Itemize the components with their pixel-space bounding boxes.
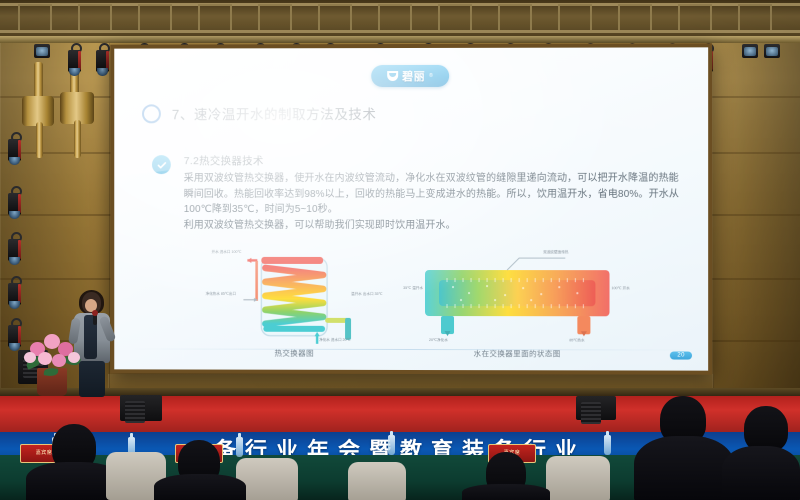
diagram-label-cold-inlet: 净化水 进水口 20℃ <box>319 338 353 343</box>
brand-logo-badge: 碧丽 ® <box>371 65 449 87</box>
stage-monitor-speaker <box>576 396 616 420</box>
par-light <box>764 44 780 58</box>
par-light <box>34 44 50 58</box>
check-circle-icon <box>152 155 171 174</box>
water-bottle <box>388 435 395 455</box>
diagram-heat-exchanger: 开水 进水口 100℃ 净化热水 85℃出口 温开水 出水口 35℃ 净化水 进… <box>200 248 389 358</box>
cup-icon <box>387 71 398 81</box>
conference-hall-scene: 碧丽 ® 7、速冷温开水的制取方法及技术 7.2热交换器技术 采用双波纹管热交换… <box>0 0 800 500</box>
ring-bullet-icon <box>142 104 161 123</box>
water-bottle <box>604 435 611 455</box>
chair-back <box>348 462 406 500</box>
stage-monitor-speaker <box>120 395 162 421</box>
presentation-slide[interactable]: 碧丽 ® 7、速冷温开水的制取方法及技术 7.2热交换器技术 采用双波纹管热交换… <box>114 47 708 370</box>
audience-shoulders <box>722 446 800 500</box>
projection-screen-frame: 碧丽 ® 7、速冷温开水的制取方法及技术 7.2热交换器技术 采用双波纹管热交换… <box>110 43 712 374</box>
flower-arrangement <box>24 330 80 396</box>
slide-title-row: 7、速冷温开水的制取方法及技术 <box>142 103 376 123</box>
body-paragraph-1: 采用双波纹管热交换器，使开水在内波纹管流动，净化水在双波纹管的缝隙里递向流动，可… <box>184 171 684 218</box>
diagram-label-hot-outlet: 净化热水 85℃出口 <box>206 292 242 297</box>
diagram-label-warm-left: 35℃ 温开水 <box>397 286 423 291</box>
audience-shoulders <box>462 484 550 500</box>
diagram-row: 开水 进水口 100℃ 净化热水 85℃出口 温开水 出水口 35℃ 净化水 进… <box>200 248 640 359</box>
diagram-label-boiling-right: 100℃ 开水 <box>612 286 638 291</box>
diagram-water-state: 双波纹壁面传热 35℃ 温开水 100℃ 开水 20℃净化水 85℃热水 水在交… <box>395 248 640 358</box>
audience-shoulders <box>154 474 246 500</box>
diagram-label-hot-bottom: 85℃热水 <box>569 338 584 343</box>
slide-body: 7.2热交换器技术 采用双波纹管热交换器，使开水在内波纹管流动，净化水在双波纹管… <box>184 153 684 233</box>
truss-bottom-bar <box>0 36 800 43</box>
water-bottle <box>236 437 243 457</box>
diagram-label-warm-outlet: 温开水 出水口 35℃ <box>351 292 385 297</box>
diagram-label-purified-bottom: 20℃净化水 <box>429 338 448 343</box>
slide-title: 7、速冷温开水的制取方法及技术 <box>172 103 377 123</box>
audience-shoulders <box>634 436 734 500</box>
chair-back <box>546 456 610 500</box>
diagram-label-hot-inlet: 开水 进水口 100℃ <box>212 250 246 255</box>
par-light <box>742 44 758 58</box>
diagram-label-wall-transfer: 双波纹壁面传热 <box>543 250 568 255</box>
lighting-truss <box>0 0 800 40</box>
slide-page-number: 20 <box>670 352 692 360</box>
body-paragraph-2: 利用双波纹管热交换器，可以帮助我们实现即时饮用温开水。 <box>184 217 684 233</box>
registered-mark: ® <box>429 73 433 79</box>
brand-name: 碧丽 <box>402 68 425 84</box>
subsection-heading: 7.2热交换器技术 <box>184 153 684 168</box>
